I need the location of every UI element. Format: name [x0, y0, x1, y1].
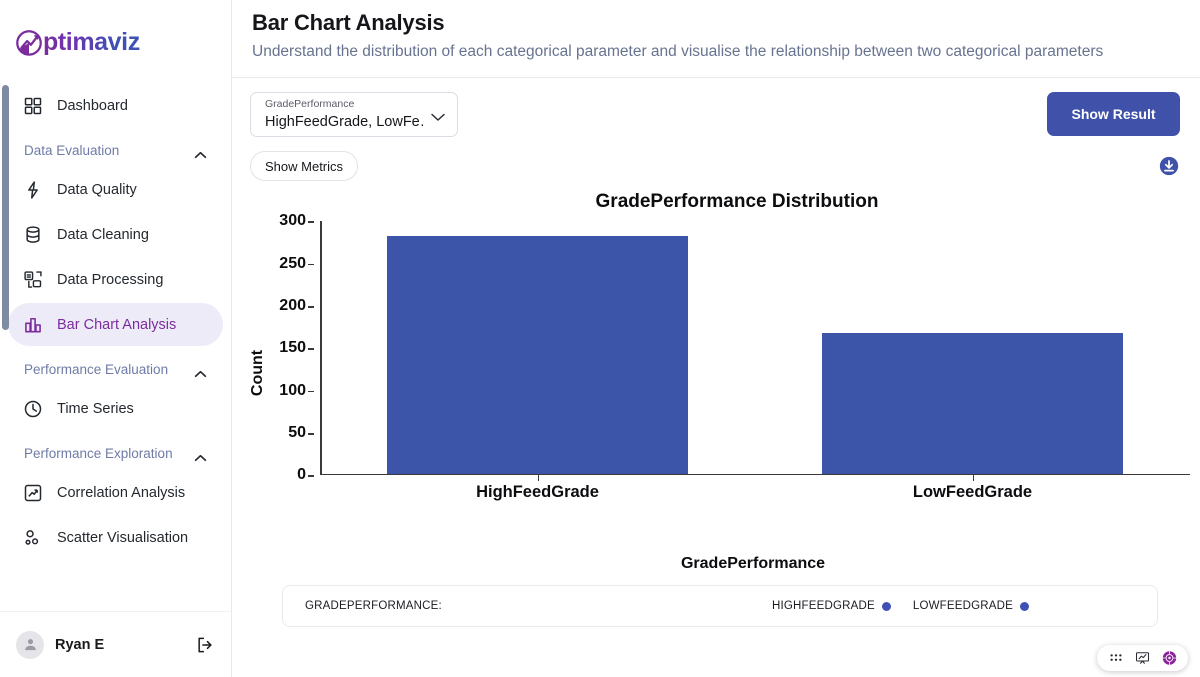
controls-row: GradePerformance HighFeedGrade, LowFe… S… [232, 78, 1200, 137]
x-axis-tick-labels: HighFeedGradeLowFeedGrade [320, 483, 1190, 502]
clock-icon [22, 398, 43, 419]
legend-item-label: LOWFEEDGRADE [913, 600, 1013, 612]
y-axis-tick: 0 [297, 466, 306, 484]
chevron-up-icon [194, 366, 207, 374]
main-content: Bar Chart Analysis Understand the distri… [232, 0, 1200, 677]
sidebar-section-data-evaluation[interactable]: Data Evaluation [8, 129, 223, 166]
sidebar-item-label: Data Cleaning [57, 227, 149, 243]
brand: ptimaviz [0, 0, 231, 76]
chart-title: GradePerformance Distribution [280, 191, 1194, 213]
y-axis-tick: 150 [279, 339, 306, 357]
sidebar-item-dashboard[interactable]: Dashboard [8, 84, 223, 127]
chart-legend: GRADEPERFORMANCE: HIGHFEEDGRADELOWFEEDGR… [282, 585, 1158, 627]
y-axis-tick: 250 [279, 255, 306, 273]
grid-dots-icon[interactable] [1108, 651, 1123, 666]
page-subtitle: Understand the distribution of each cate… [252, 40, 1112, 63]
user-name: Ryan E [55, 637, 184, 653]
select-label: GradePerformance [265, 98, 423, 112]
optimaviz-logo-icon [14, 27, 44, 57]
grid-squares-icon [22, 95, 43, 116]
sidebar-item-bar-chart-analysis[interactable]: Bar Chart Analysis [8, 303, 223, 346]
sidebar-footer: Ryan E [0, 611, 231, 677]
brand-name: ptimaviz [43, 28, 140, 57]
download-circle-icon[interactable] [1158, 155, 1180, 177]
legend-color-dot [882, 602, 891, 611]
floating-toolbar [1097, 645, 1188, 671]
sidebar-section-performance-evaluation[interactable]: Performance Evaluation [8, 348, 223, 385]
y-axis-tick: 200 [279, 297, 306, 315]
select-value: HighFeedGrade, LowFe… [265, 112, 423, 133]
chart-box-icon [22, 482, 43, 503]
legend-item-list: HIGHFEEDGRADELOWFEEDGRADE [772, 600, 1029, 612]
x-axis-label: GradePerformance [312, 555, 1194, 573]
y-axis-label: Count [249, 350, 267, 396]
chart-axes [320, 221, 1190, 475]
x-axis-tick-label: HighFeedGrade [320, 483, 755, 502]
chevron-up-icon [194, 450, 207, 458]
sidebar-section-performance-exploration[interactable]: Performance Exploration [8, 432, 223, 469]
bar-slot [320, 221, 755, 473]
bar-chart-icon [22, 314, 43, 335]
sidebar-item-label: Bar Chart Analysis [57, 317, 176, 333]
legend-item[interactable]: HIGHFEEDGRADE [772, 600, 891, 612]
data-processing-icon [22, 269, 43, 290]
x-axis-tick-label: LowFeedGrade [755, 483, 1190, 502]
legend-key-label: GRADEPERFORMANCE: [305, 600, 442, 612]
bar[interactable] [822, 333, 1122, 474]
x-axis-tick-mark [973, 475, 975, 481]
grade-performance-select[interactable]: GradePerformance HighFeedGrade, LowFe… [250, 92, 458, 137]
chart-bars [320, 221, 1190, 473]
sidebar-item-data-quality[interactable]: Data Quality [8, 168, 223, 211]
bar-slot [755, 221, 1190, 473]
x-axis-line [320, 474, 1190, 476]
sidebar-item-label: Data Processing [57, 272, 163, 288]
y-axis-tick: 300 [279, 212, 306, 230]
y-axis-tick: 50 [288, 424, 306, 442]
logout-icon[interactable] [195, 635, 215, 655]
legend-color-dot [1020, 602, 1029, 611]
sidebar-item-label: Dashboard [57, 98, 128, 114]
chevron-up-icon [194, 147, 207, 155]
show-result-button[interactable]: Show Result [1047, 92, 1180, 136]
assistant-badge-icon[interactable] [1162, 651, 1177, 666]
sidebar-section-label: Performance Evaluation [24, 362, 168, 377]
show-metrics-button[interactable]: Show Metrics [250, 151, 358, 181]
page-title: Bar Chart Analysis [252, 10, 1176, 36]
y-axis-tick: 100 [279, 382, 306, 400]
sidebar: ptimaviz Dashboard Data Evaluation [0, 0, 232, 677]
page-header: Bar Chart Analysis Understand the distri… [232, 0, 1200, 78]
bar[interactable] [387, 236, 687, 474]
presentation-chart-icon[interactable] [1135, 651, 1150, 666]
sidebar-item-label: Data Quality [57, 182, 137, 198]
sidebar-item-label: Time Series [57, 401, 134, 417]
chart-plot-area: Count 050100150200250300 HighFeedGradeLo… [250, 221, 1194, 521]
sidebar-item-time-series[interactable]: Time Series [8, 387, 223, 430]
chevron-down-icon[interactable] [430, 109, 446, 119]
sidebar-item-label: Scatter Visualisation [57, 530, 188, 546]
sidebar-scrollbar[interactable] [2, 85, 9, 330]
database-icon [22, 224, 43, 245]
app-root: ptimaviz Dashboard Data Evaluation [0, 0, 1200, 677]
bar-chart: GradePerformance Distribution Count 0501… [232, 181, 1200, 573]
y-axis-ticks: 050100150200250300 [272, 221, 314, 475]
x-axis-tick-mark [538, 475, 540, 481]
sidebar-item-data-cleaning[interactable]: Data Cleaning [8, 213, 223, 256]
sidebar-section-label: Data Evaluation [24, 143, 119, 158]
user-avatar-icon [16, 631, 44, 659]
sidebar-section-label: Performance Exploration [24, 446, 173, 461]
sidebar-item-label: Correlation Analysis [57, 485, 185, 501]
sidebar-item-data-processing[interactable]: Data Processing [8, 258, 223, 301]
metrics-row: Show Metrics [232, 137, 1200, 181]
scatter-dots-icon [22, 527, 43, 548]
sidebar-item-correlation-analysis[interactable]: Correlation Analysis [8, 471, 223, 514]
legend-item[interactable]: LOWFEEDGRADE [913, 600, 1029, 612]
lightning-bolt-icon [22, 179, 43, 200]
sidebar-item-scatter-visualisation[interactable]: Scatter Visualisation [8, 516, 223, 559]
sidebar-nav: Dashboard Data Evaluation Data Quality [0, 76, 231, 611]
legend-item-label: HIGHFEEDGRADE [772, 600, 875, 612]
